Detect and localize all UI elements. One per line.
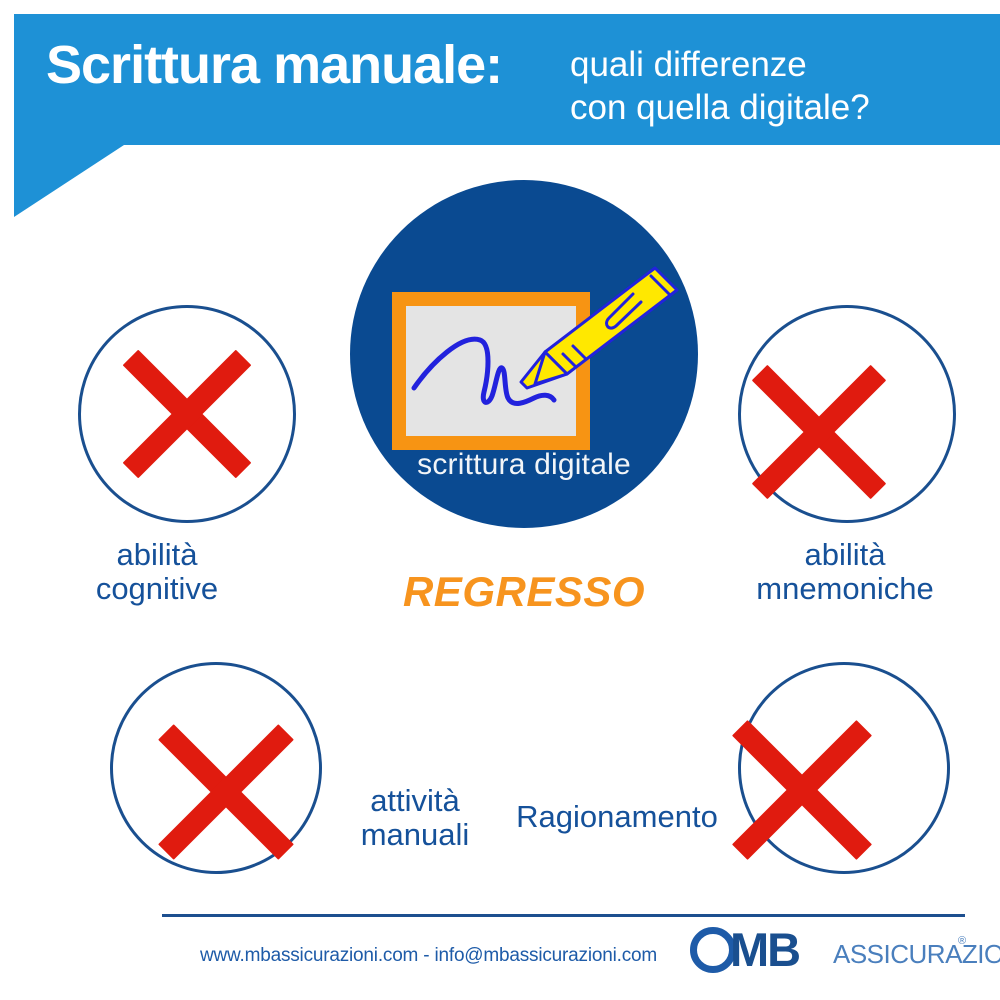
- header-banner-tail: [14, 145, 124, 217]
- page-subtitle-line-2: con quella digitale?: [570, 87, 980, 130]
- label-line-1: attività: [370, 783, 460, 818]
- label-line-1: abilità: [117, 537, 198, 572]
- footer-contact-text[interactable]: www.mbassicurazioni.com - info@mbassicur…: [200, 945, 657, 967]
- node-circle: [78, 305, 296, 523]
- node-circle: [738, 305, 956, 523]
- page-subtitle-line-1: quali differenze: [570, 44, 980, 87]
- company-logo: MB ASSICURAZIONI ®: [690, 925, 970, 977]
- center-node-digital-writing: scrittura digitale: [350, 180, 698, 528]
- footer-divider: [162, 914, 965, 917]
- logo-wordmark: ASSICURAZIONI: [833, 939, 1000, 970]
- page-title: Scrittura manuale:: [46, 38, 502, 92]
- node-circle: [110, 662, 322, 874]
- node-label-ragionamento: Ragionamento: [486, 800, 748, 834]
- node-circle: [738, 662, 950, 874]
- label-line-1: abilità: [805, 537, 886, 572]
- stylus-pen-icon: [505, 262, 685, 412]
- page-subtitle: quali differenze con quella digitale?: [570, 44, 980, 129]
- label-line-2: manuali: [361, 817, 470, 852]
- label-line-2: cognitive: [96, 571, 218, 606]
- registered-trademark-icon: ®: [958, 935, 966, 947]
- label-line-1: Ragionamento: [516, 799, 718, 834]
- center-node-label: scrittura digitale: [350, 448, 698, 482]
- infographic-page: Scrittura manuale: quali differenze con …: [0, 0, 1000, 1000]
- node-label-abilita-cognitive: abilità cognitive: [0, 538, 322, 606]
- logo-initials: MB: [730, 922, 799, 977]
- label-line-2: mnemoniche: [756, 571, 933, 606]
- node-label-abilita-mnemoniche: abilità mnemoniche: [690, 538, 1000, 606]
- regresso-label: REGRESSO: [350, 568, 698, 616]
